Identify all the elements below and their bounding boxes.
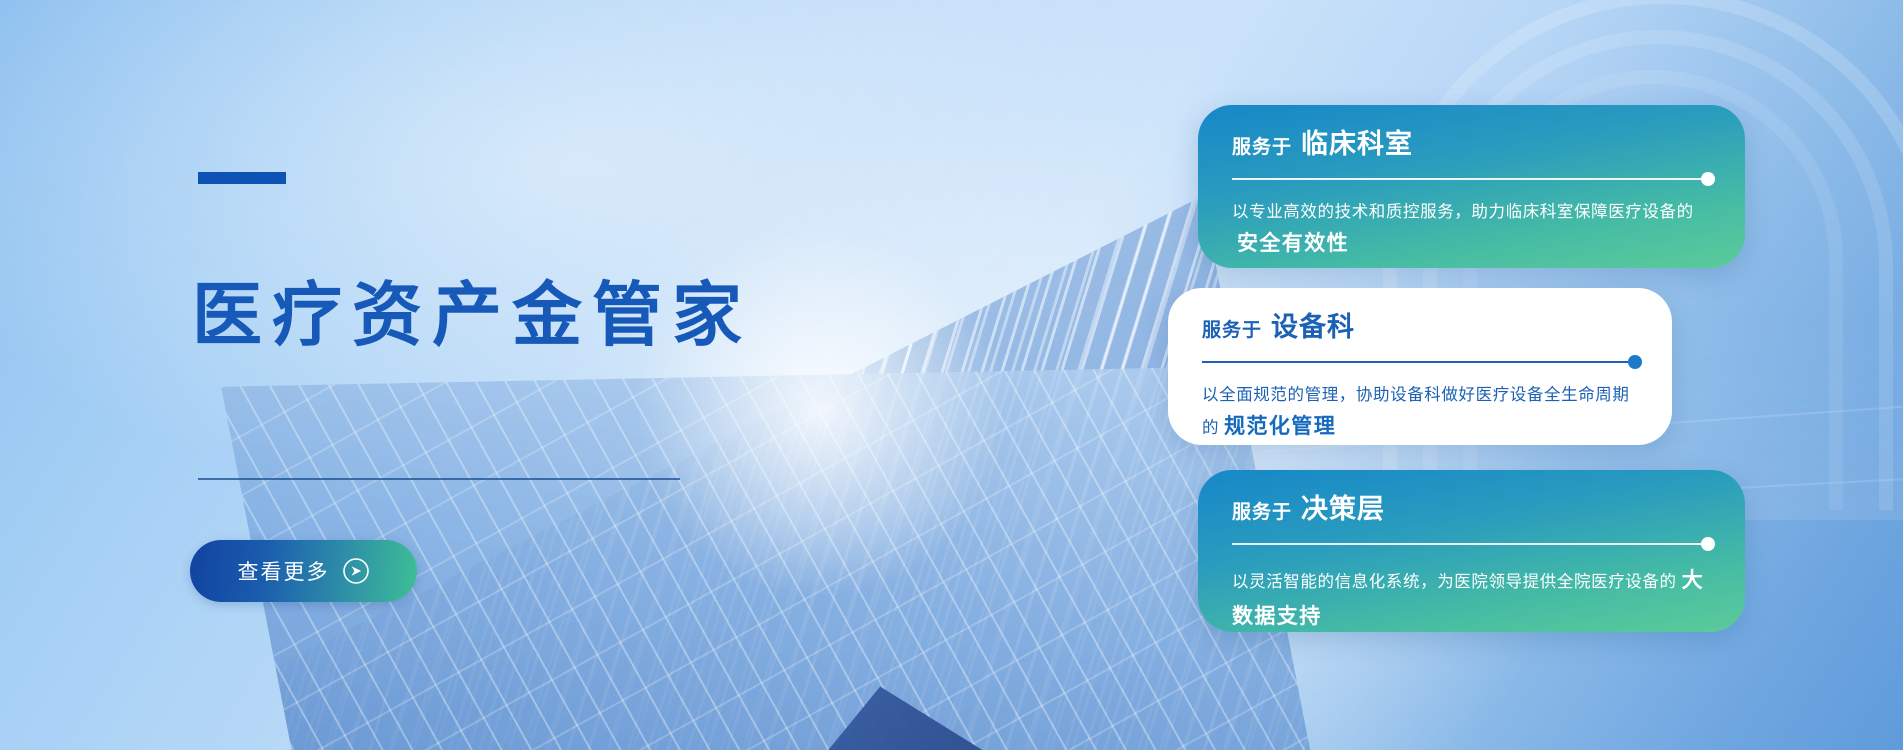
- card-head-main: 决策层: [1301, 496, 1385, 523]
- service-cards-list: 服务于 临床科室 以专业高效的技术和质控服务，助力临床科室保障医疗设备的安全有效…: [0, 0, 1903, 750]
- card-divider: [1232, 537, 1711, 551]
- divider-dot-icon: [1628, 355, 1642, 369]
- card-body-text: 以专业高效的技术和质控服务，助力临床科室保障医疗设备的: [1232, 203, 1694, 221]
- card-body-highlight: 规范化管理: [1224, 415, 1336, 438]
- card-body: 以灵活智能的信息化系统，为医院领导提供全院医疗设备的大数据支持: [1232, 563, 1711, 632]
- card-divider: [1232, 172, 1711, 186]
- divider-dot-icon: [1701, 537, 1715, 551]
- card-head-prefix: 服务于: [1232, 503, 1292, 522]
- card-head-main: 临床科室: [1301, 131, 1413, 158]
- card-header: 服务于 决策层: [1232, 496, 1711, 523]
- card-body-text: 以灵活智能的信息化系统，为医院领导提供全院医疗设备的: [1232, 573, 1677, 591]
- hero-banner: 医疗资产金管家 查看更多 服务于 临床科室 以专业高效的技术: [0, 0, 1903, 750]
- card-body-highlight: 安全有效性: [1237, 232, 1349, 255]
- card-head-prefix: 服务于: [1202, 321, 1262, 340]
- card-divider: [1202, 355, 1638, 369]
- service-card-decision[interactable]: 服务于 决策层 以灵活智能的信息化系统，为医院领导提供全院医疗设备的大数据支持: [1198, 470, 1745, 632]
- divider-line: [1232, 178, 1711, 180]
- card-header: 服务于 临床科室: [1232, 131, 1711, 158]
- card-header: 服务于 设备科: [1202, 314, 1638, 341]
- service-card-clinical[interactable]: 服务于 临床科室 以专业高效的技术和质控服务，助力临床科室保障医疗设备的安全有效…: [1198, 105, 1745, 268]
- service-card-equipment[interactable]: 服务于 设备科 以全面规范的管理，协助设备科做好医疗设备全生命周期的规范化管理: [1168, 288, 1672, 445]
- card-body: 以专业高效的技术和质控服务，助力临床科室保障医疗设备的安全有效性: [1232, 198, 1711, 262]
- divider-line: [1232, 543, 1711, 545]
- card-head-prefix: 服务于: [1232, 138, 1292, 157]
- divider-dot-icon: [1701, 172, 1715, 186]
- card-body: 以全面规范的管理，协助设备科做好医疗设备全生命周期的规范化管理: [1202, 381, 1638, 445]
- divider-line: [1202, 361, 1638, 363]
- card-head-main: 设备科: [1271, 314, 1355, 341]
